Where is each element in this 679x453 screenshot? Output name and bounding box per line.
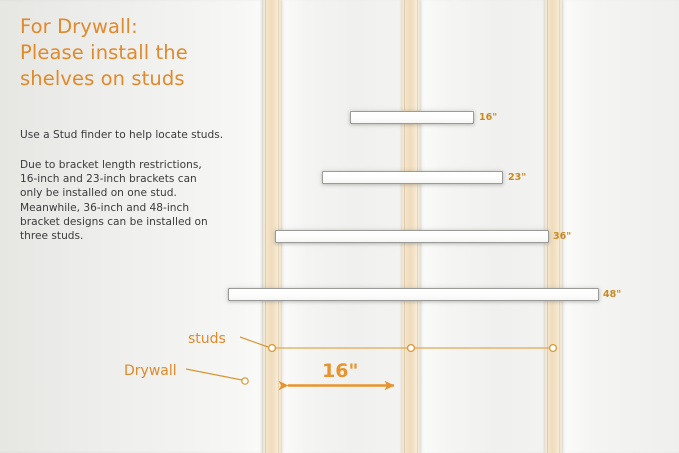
stud-spacing-dimension-label: 16" xyxy=(322,360,358,382)
drywall-callout-dot xyxy=(242,378,248,384)
stud-callout-dot-2 xyxy=(408,345,415,352)
drywall-leader-line xyxy=(186,369,242,380)
drywall-annotation-label: Drywall xyxy=(124,363,177,379)
studs-leader-line xyxy=(240,337,268,347)
drywall-instruction-diagram: For Drywall: Please install the shelves … xyxy=(0,0,679,453)
stud-callout-dot-3 xyxy=(550,345,557,352)
annotation-overlay xyxy=(0,0,679,453)
stud-callout-dot-1 xyxy=(269,345,276,352)
studs-annotation-label: studs xyxy=(188,331,226,347)
